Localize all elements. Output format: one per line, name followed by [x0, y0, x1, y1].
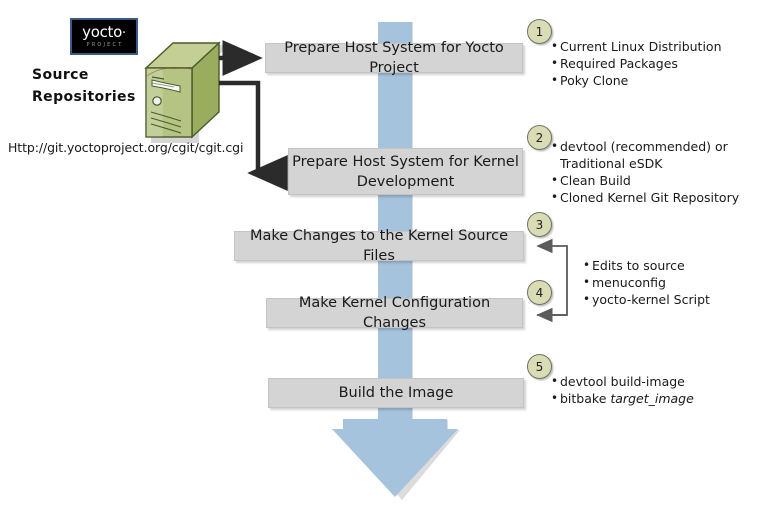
step-4-number: 4: [536, 286, 544, 300]
process-box-make-kernel-source-changes[interactable]: Make Changes to the Kernel Source Files: [234, 231, 524, 261]
bullet-glyph: •: [551, 55, 560, 72]
process-box-build-the-image[interactable]: Build the Image: [268, 378, 524, 408]
bullet-item: • Cloned Kernel Git Repository: [551, 189, 766, 206]
bullet-text: bitbake target_image: [560, 390, 766, 407]
process-box-2-label-line2: Development: [357, 174, 455, 190]
bullet-text: devtool build-image: [560, 373, 766, 390]
step-5-bullet-list: • devtool build-image • bitbake target_i…: [551, 373, 766, 407]
logo-wordmark: yocto·: [82, 25, 126, 41]
step-1-bullet-list: • Current Linux Distribution • Required …: [551, 38, 766, 89]
bullet-glyph: •: [551, 172, 560, 189]
bullet-item: • devtool build-image: [551, 373, 766, 390]
step-3-number: 3: [536, 218, 544, 232]
bullet-glyph: •: [551, 138, 560, 155]
bullet-glyph: •: [551, 189, 560, 206]
bullet-item: • Clean Build: [551, 172, 766, 189]
step-number-3: 3: [527, 212, 552, 237]
bullet-text: Poky Clone: [560, 72, 766, 89]
bullet-text-arg: target_image: [610, 391, 693, 406]
bullet-item: • Poky Clone: [551, 72, 766, 89]
bullet-item: • yocto-kernel Script: [583, 291, 768, 308]
step-1-number: 1: [536, 25, 544, 39]
process-box-prepare-host-yocto[interactable]: Prepare Host System for Yocto Project: [265, 43, 523, 73]
process-box-prepare-host-kernel[interactable]: Prepare Host System for Kernel Developme…: [288, 148, 523, 195]
server-tower-icon: [134, 36, 226, 144]
logo-word-text: yocto: [82, 23, 122, 41]
bullet-item: • Edits to source: [583, 257, 768, 274]
step-number-4: 4: [527, 280, 552, 305]
step-5-number: 5: [536, 360, 544, 374]
process-box-4-label: Make Kernel Configuration Changes: [267, 293, 522, 333]
bullet-text: devtool (recommended) or Traditional eSD…: [560, 138, 766, 172]
process-box-1-label: Prepare Host System for Yocto Project: [266, 38, 522, 78]
step-number-2: 2: [527, 125, 552, 150]
bullet-text: menuconfig: [592, 274, 768, 291]
bullet-text-command: bitbake: [560, 391, 610, 406]
bullet-item: • devtool (recommended) or Traditional e…: [551, 138, 766, 172]
bullet-glyph: •: [583, 257, 592, 274]
logo-subtitle: PROJECT: [86, 42, 123, 49]
step-2-bullet-list: • devtool (recommended) or Traditional e…: [551, 138, 766, 206]
process-box-make-kernel-config-changes[interactable]: Make Kernel Configuration Changes: [266, 298, 523, 328]
bullet-item: • Current Linux Distribution: [551, 38, 766, 55]
bullet-glyph: •: [551, 38, 560, 55]
bullet-glyph: •: [551, 72, 560, 89]
bullet-text: yocto-kernel Script: [592, 291, 768, 308]
bullet-item: • menuconfig: [583, 274, 768, 291]
step-number-5: 5: [527, 354, 552, 379]
yocto-project-logo: yocto· PROJECT: [70, 18, 138, 55]
bullet-text: Current Linux Distribution: [560, 38, 766, 55]
process-box-3-label: Make Changes to the Kernel Source Files: [235, 226, 523, 266]
bullet-text: Clean Build: [560, 172, 766, 189]
logo-dot: ·: [122, 26, 126, 41]
step-2-number: 2: [536, 131, 544, 145]
process-box-2-label: Prepare Host System for Kernel Developme…: [292, 152, 519, 192]
bullet-glyph: •: [583, 274, 592, 291]
bullet-item: • bitbake target_image: [551, 390, 766, 407]
bullet-glyph: •: [551, 390, 560, 407]
process-box-2-label-line1: Prepare Host System for Kernel: [292, 154, 519, 170]
bullet-glyph: •: [583, 291, 592, 308]
steps-3-4-shared-bullet-list: • Edits to source • menuconfig • yocto-k…: [583, 257, 768, 308]
bullet-text: Required Packages: [560, 55, 766, 72]
bullet-glyph: •: [551, 373, 560, 390]
bullet-text: Edits to source: [592, 257, 768, 274]
step-number-1: 1: [527, 19, 552, 44]
diagram-canvas: yocto· PROJECT Source Repositories Http:…: [0, 0, 769, 517]
bullet-text: Cloned Kernel Git Repository: [560, 189, 766, 206]
process-box-5-label: Build the Image: [339, 383, 454, 403]
bullet-item: • Required Packages: [551, 55, 766, 72]
